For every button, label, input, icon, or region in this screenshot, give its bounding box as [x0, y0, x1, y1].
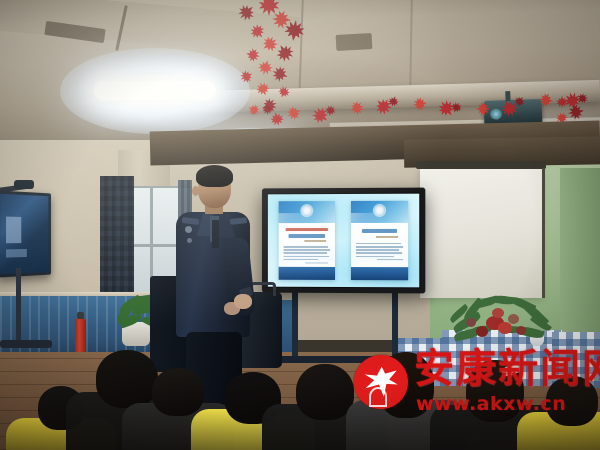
tv-bezel	[262, 188, 425, 294]
child-head	[96, 350, 158, 408]
bouquet-flower	[492, 308, 504, 318]
fire-extinguisher	[75, 318, 86, 352]
wall-mounted-television	[262, 188, 425, 294]
officer-badge-icon	[185, 226, 192, 233]
officer-ear	[192, 186, 199, 196]
ceiling-vent	[336, 33, 373, 51]
projection-screen	[420, 168, 542, 298]
ceiling-panel-seam	[298, 0, 303, 100]
tv-stand-pole	[292, 292, 298, 362]
officer-badge-icon	[187, 238, 192, 243]
child-head	[296, 364, 354, 420]
bouquet-flower	[516, 326, 526, 335]
watermark-url: www.akxw.cn	[416, 393, 566, 415]
news-photo: 安康新闻网 www.akxw.cn	[0, 0, 600, 450]
bouquet-flower	[498, 322, 512, 334]
officer-tie	[212, 220, 219, 248]
officer-hair	[196, 165, 233, 187]
child-head	[152, 368, 204, 416]
fluorescent-light-icon	[60, 48, 250, 134]
green-wall-shadowed	[560, 168, 600, 353]
bird-logo-icon	[354, 355, 408, 409]
bouquet-flower	[466, 318, 476, 327]
secondary-display	[0, 190, 51, 277]
watermark-site-name: 安康新闻网	[414, 347, 600, 391]
monitor-stand-pole	[16, 268, 21, 346]
bouquet-flower	[508, 314, 519, 324]
flower-arrangement	[452, 296, 544, 352]
monitor-top-lamp	[14, 180, 34, 189]
watermark: 安康新闻网 www.akxw.cn	[354, 349, 584, 421]
officer-hand	[234, 294, 252, 309]
monitor-stand-base	[0, 340, 52, 348]
bouquet-flower	[476, 326, 488, 337]
ceiling-panel-seam	[409, 0, 413, 92]
